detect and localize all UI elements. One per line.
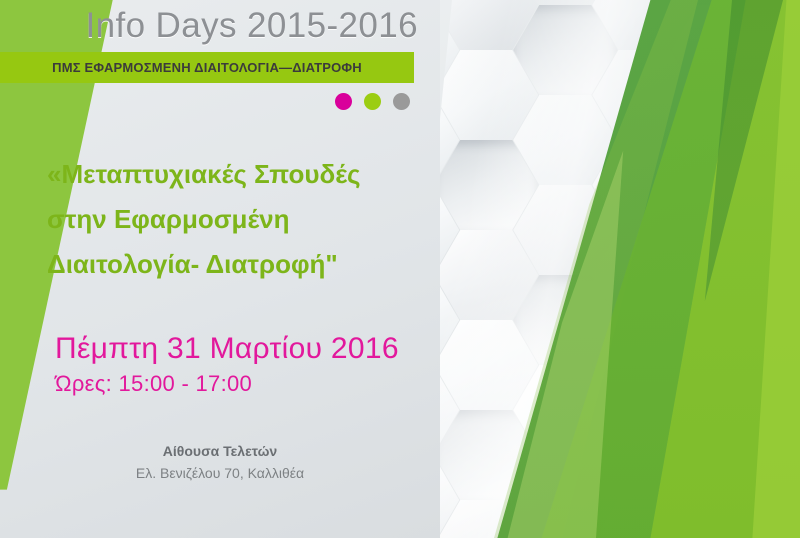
event-datetime: Πέμπτη 31 Μαρτίου 2016 Ώρες: 15:00 - 17:… bbox=[55, 330, 435, 400]
event-time: Ώρες: 15:00 - 17:00 bbox=[55, 368, 435, 400]
event-poster: Info Days 2015-2016 ΠΜΣ ΕΦΑΡΜΟΣΜΕΝΗ ΔΙΑΙ… bbox=[0, 0, 800, 538]
green-angled-panels bbox=[460, 0, 800, 538]
program-banner-label: ΠΜΣ ΕΦΑΡΜΟΣΜΕΝΗ ΔΙΑΙΤΟΛΟΓΙΑ—ΔΙΑΤΡΟΦΗ bbox=[52, 60, 362, 75]
event-venue: Αίθουσα Τελετών Ελ. Βενιζέλου 70, Καλλιθ… bbox=[0, 440, 440, 484]
decorative-dots bbox=[335, 93, 410, 110]
venue-name: Αίθουσα Τελετών bbox=[0, 440, 440, 462]
headline-line-1: «Μεταπτυχιακές Σπουδές bbox=[47, 152, 417, 197]
event-date: Πέμπτη 31 Μαρτίου 2016 bbox=[55, 330, 435, 368]
headline: «Μεταπτυχιακές Σπουδές στην Εφαρμοσμένη … bbox=[47, 152, 417, 287]
program-banner: ΠΜΣ ΕΦΑΡΜΟΣΜΕΝΗ ΔΙΑΙΤΟΛΟΓΙΑ—ΔΙΑΤΡΟΦΗ bbox=[0, 52, 414, 83]
venue-address: Ελ. Βενιζέλου 70, Καλλιθέα bbox=[0, 462, 440, 484]
dot-gray-icon bbox=[393, 93, 410, 110]
page-title: Info Days 2015-2016 bbox=[0, 6, 418, 46]
headline-line-3: Διαιτολογία- Διατροφή" bbox=[47, 242, 417, 287]
headline-line-2: στην Εφαρμοσμένη bbox=[47, 197, 417, 242]
dot-green-icon bbox=[364, 93, 381, 110]
dot-magenta-icon bbox=[335, 93, 352, 110]
